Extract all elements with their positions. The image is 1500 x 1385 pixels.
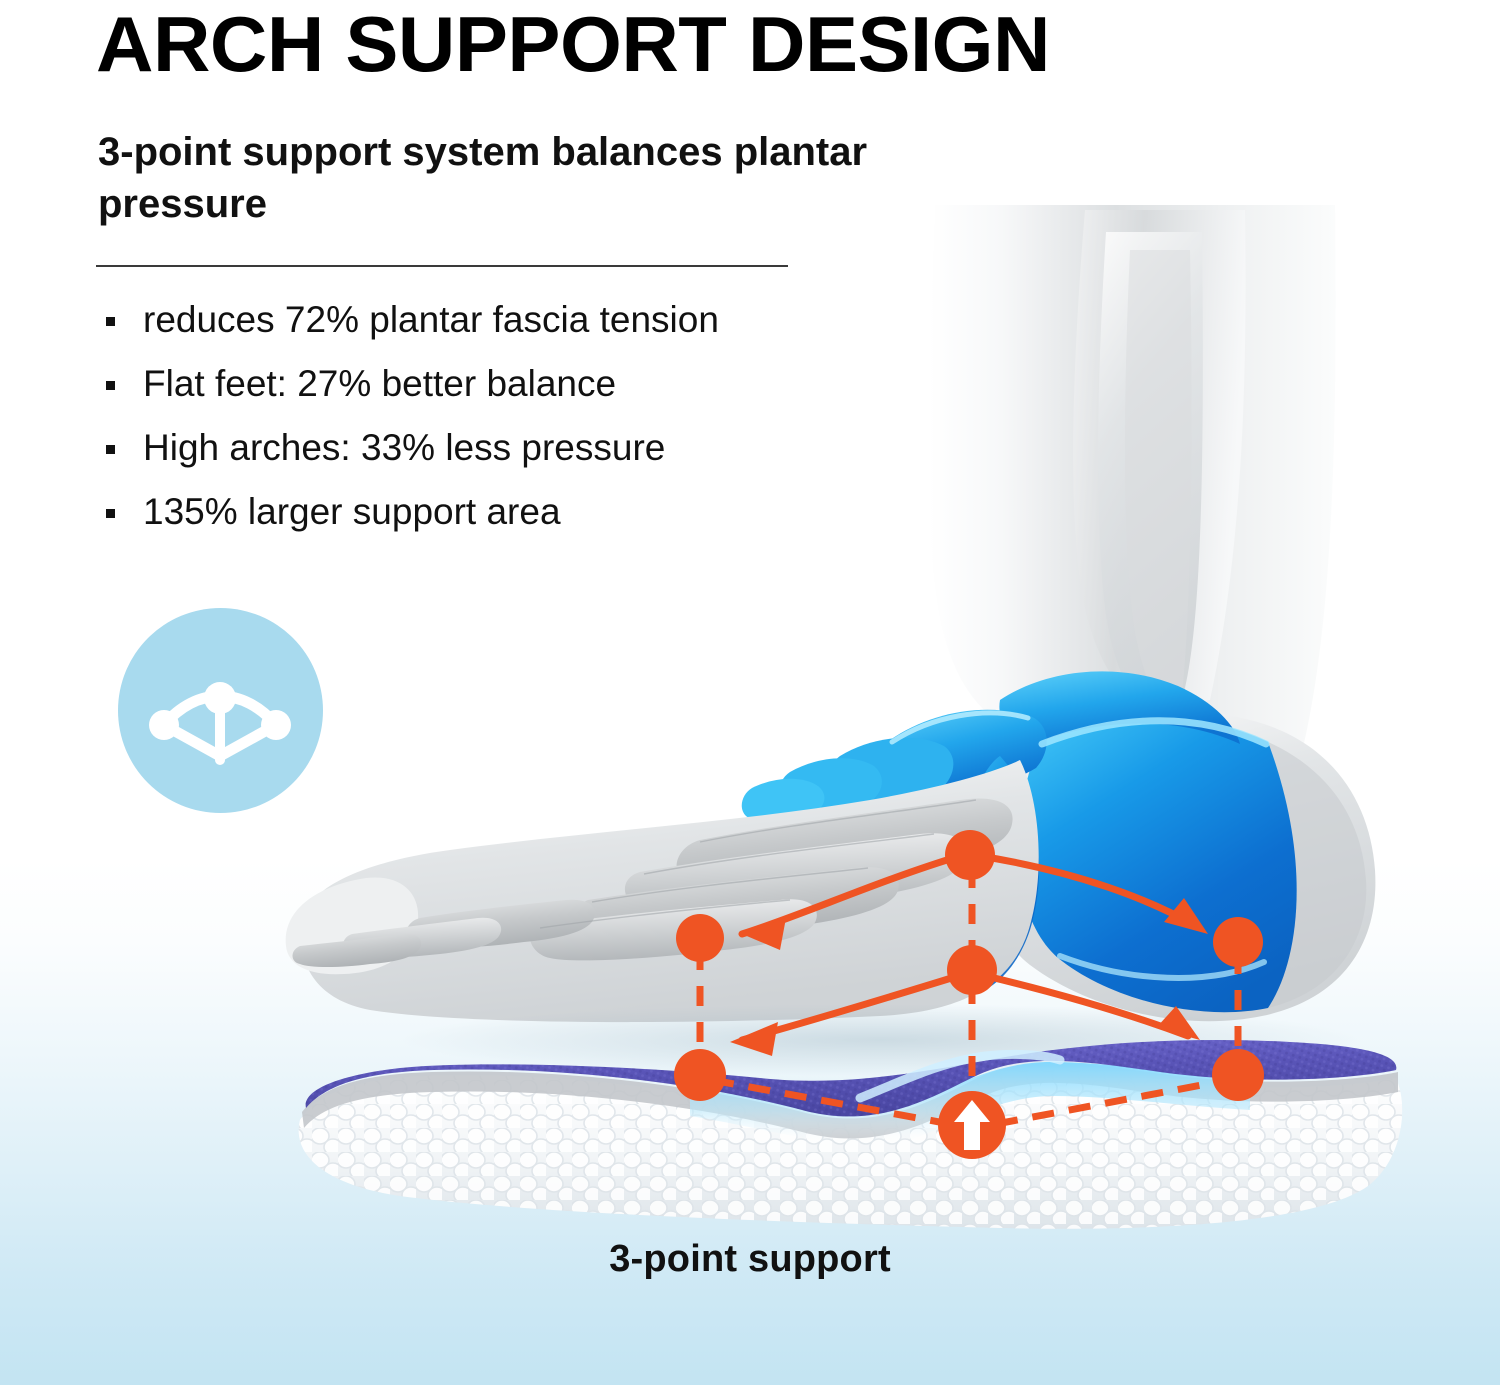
forefoot-insole-point bbox=[674, 1049, 726, 1101]
list-item-label: 135% larger support area bbox=[143, 488, 561, 536]
infographic-page: ARCH SUPPORT DESIGN 3-point support syst… bbox=[0, 0, 1500, 1385]
midfoot-foot-point bbox=[945, 830, 995, 880]
heel-foot-point bbox=[1213, 917, 1263, 967]
arch-lift-point bbox=[938, 1091, 1006, 1159]
heel-insole-point bbox=[1212, 1049, 1264, 1101]
list-item-label: Flat feet: 27% better balance bbox=[143, 360, 616, 408]
feature-bullet-list: reduces 72% plantar fascia tension Flat … bbox=[98, 296, 878, 552]
bullet-square-icon bbox=[106, 509, 115, 518]
forefoot-foot-point bbox=[676, 914, 724, 962]
bullet-square-icon bbox=[106, 381, 115, 390]
list-item-label: High arches: 33% less pressure bbox=[143, 424, 665, 472]
bullet-square-icon bbox=[106, 445, 115, 454]
list-item: Flat feet: 27% better balance bbox=[98, 360, 878, 408]
page-title: ARCH SUPPORT DESIGN bbox=[96, 2, 1050, 86]
three-point-arch-icon bbox=[118, 608, 323, 813]
insole-caption: 3-point support bbox=[0, 1238, 1500, 1281]
list-item: High arches: 33% less pressure bbox=[98, 424, 878, 472]
bullet-square-icon bbox=[106, 317, 115, 326]
list-item-label: reduces 72% plantar fascia tension bbox=[143, 296, 719, 344]
list-item: reduces 72% plantar fascia tension bbox=[98, 296, 878, 344]
header-divider bbox=[96, 265, 788, 267]
list-item: 135% larger support area bbox=[98, 488, 878, 536]
page-subtitle: 3-point support system balances plantar … bbox=[98, 126, 918, 230]
three-point-arch-badge bbox=[118, 608, 323, 813]
midfoot-lower-point bbox=[947, 945, 997, 995]
